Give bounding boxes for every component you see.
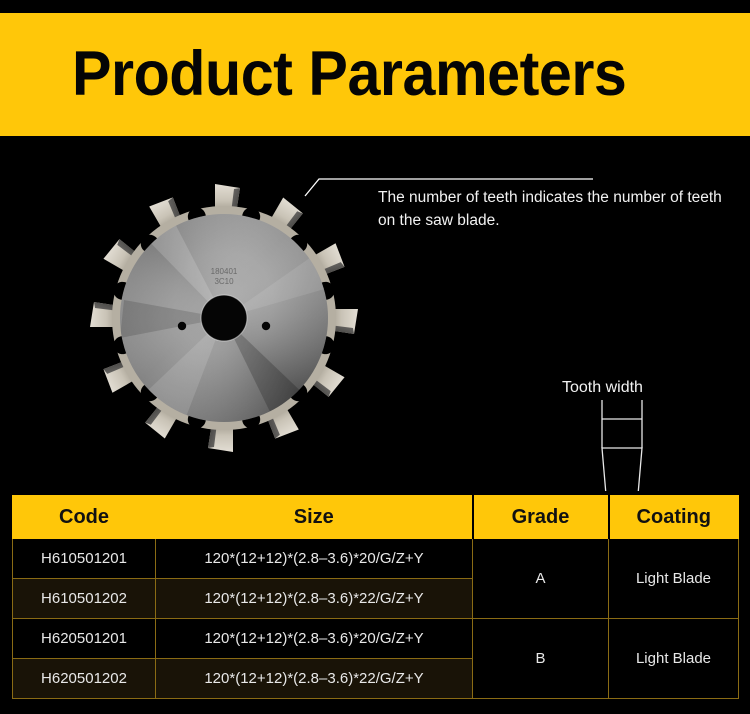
cell-grade: B: [473, 619, 609, 699]
cell-size: 120*(12+12)*(2.8–3.6)*20/G/Z+Y: [156, 539, 473, 579]
teeth-callout-text: The number of teeth indicates the number…: [378, 186, 730, 232]
title-banner: Product Parameters: [0, 13, 750, 136]
spec-table-container: Code Size Grade Coating H610501201 120*(…: [12, 495, 738, 699]
hero-section: 180401 3C10 The number of teeth indicate…: [0, 136, 750, 491]
pin-hole-left: [178, 322, 186, 330]
table-row: H610501201 120*(12+12)*(2.8–3.6)*20/G/Z+…: [13, 539, 739, 579]
column-header-coating: Coating: [609, 496, 739, 539]
cell-code: H620501202: [13, 659, 156, 699]
table-row: H620501201 120*(12+12)*(2.8–3.6)*20/G/Z+…: [13, 619, 739, 659]
cell-size: 120*(12+12)*(2.8–3.6)*20/G/Z+Y: [156, 619, 473, 659]
saw-blade-icon: 180401 3C10: [74, 168, 374, 468]
cell-code: H620501201: [13, 619, 156, 659]
cell-coating: Light Blade: [609, 539, 739, 619]
column-header-grade: Grade: [473, 496, 609, 539]
page-title: Product Parameters: [72, 43, 626, 106]
tooth-width-label: Tooth width: [562, 379, 643, 397]
pin-hole-right: [262, 322, 270, 330]
saw-blade-image: 180401 3C10: [74, 168, 374, 468]
column-header-code: Code: [13, 496, 156, 539]
column-header-size: Size: [156, 496, 473, 539]
table-header-row: Code Size Grade Coating: [13, 496, 739, 539]
tooth-profile-diagram: [560, 398, 740, 491]
cell-code: H610501201: [13, 539, 156, 579]
cell-coating: Light Blade: [609, 619, 739, 699]
product-parameters-table: Code Size Grade Coating H610501201 120*(…: [12, 495, 739, 699]
blade-engraving-line2: 3C10: [214, 277, 234, 286]
blade-engraving-line1: 180401: [211, 267, 238, 276]
cell-grade: A: [473, 539, 609, 619]
cell-code: H610501202: [13, 579, 156, 619]
cell-size: 120*(12+12)*(2.8–3.6)*22/G/Z+Y: [156, 579, 473, 619]
cell-size: 120*(12+12)*(2.8–3.6)*22/G/Z+Y: [156, 659, 473, 699]
